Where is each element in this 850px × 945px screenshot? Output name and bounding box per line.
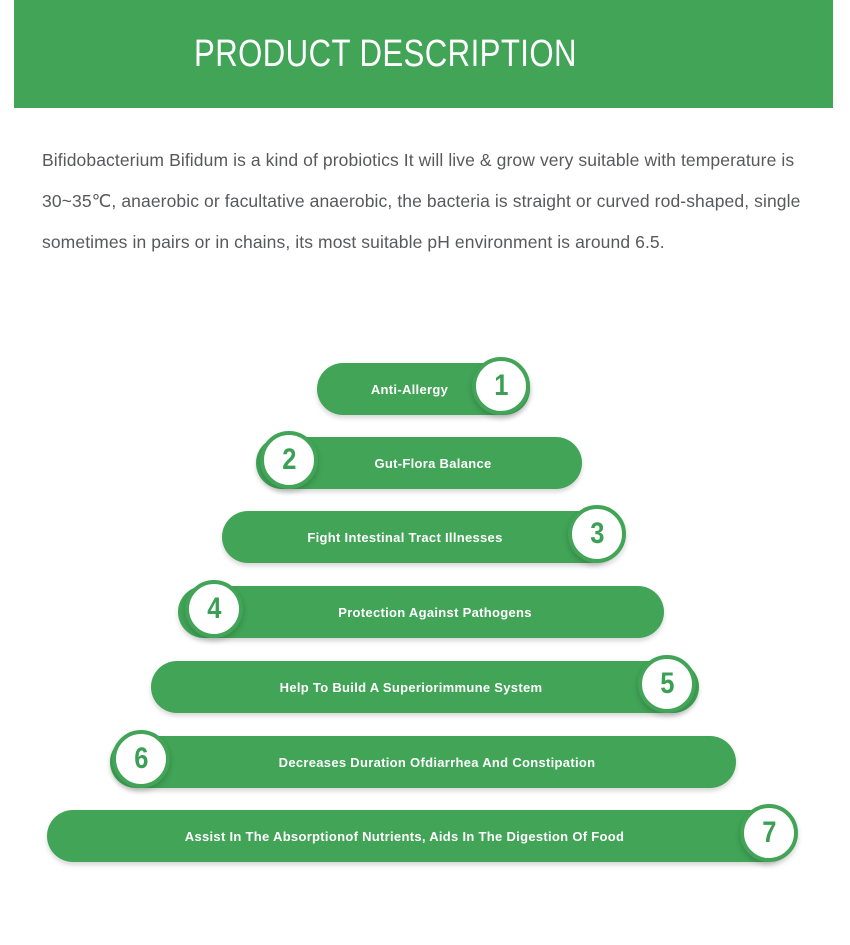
benefit-badge-3: 3 — [568, 505, 626, 563]
benefit-badge-7: 7 — [740, 804, 798, 862]
benefit-label-2: Gut-Flora Balance — [328, 456, 537, 471]
benefit-label-1: Anti-Allergy — [325, 382, 494, 397]
benefit-label-7: Assist In The Absorptionof Nutrients, Ai… — [139, 829, 670, 844]
benefit-row-5: Help To Build A Superiorimmune System 5 — [0, 661, 850, 713]
benefit-badge-6: 6 — [112, 730, 170, 788]
benefit-badge-1: 1 — [472, 357, 530, 415]
benefit-number-6: 6 — [134, 744, 148, 774]
benefit-row-2: Gut-Flora Balance 2 — [0, 437, 850, 489]
benefit-number-7: 7 — [762, 818, 776, 848]
benefit-bar-4[interactable]: Protection Against Pathogens — [178, 586, 664, 638]
benefit-row-4: Protection Against Pathogens 4 — [0, 586, 850, 638]
benefit-label-6: Decreases Duration Ofdiarrhea And Consti… — [233, 755, 642, 770]
benefit-label-5: Help To Build A Superiorimmune System — [234, 680, 589, 695]
benefit-label-4: Protection Against Pathogens — [292, 605, 578, 620]
page-header-banner: PRODUCT DESCRIPTION — [14, 0, 833, 108]
benefit-bar-6[interactable]: Decreases Duration Ofdiarrhea And Consti… — [110, 736, 736, 788]
benefit-row-3: Fight Intestinal Tract Illnesses 3 — [0, 511, 850, 563]
benefits-pyramid: Anti-Allergy 1 Gut-Flora Balance 2 Fight… — [0, 363, 850, 883]
benefit-bar-5[interactable]: Help To Build A Superiorimmune System — [151, 661, 699, 713]
page-title: PRODUCT DESCRIPTION — [194, 33, 577, 76]
benefit-label-3: Fight Intestinal Tract Illnesses — [261, 530, 548, 545]
benefit-bar-3[interactable]: Fight Intestinal Tract Illnesses — [222, 511, 616, 563]
benefit-number-5: 5 — [660, 669, 674, 699]
benefit-number-2: 2 — [282, 445, 296, 475]
benefit-row-1: Anti-Allergy 1 — [0, 363, 850, 415]
benefit-badge-5: 5 — [638, 655, 696, 713]
benefit-badge-4: 4 — [185, 580, 243, 638]
benefit-bar-7[interactable]: Assist In The Absorptionof Nutrients, Ai… — [47, 810, 790, 862]
benefit-row-7: Assist In The Absorptionof Nutrients, Ai… — [0, 810, 850, 862]
benefit-number-4: 4 — [207, 594, 221, 624]
benefit-badge-2: 2 — [260, 431, 318, 489]
benefit-number-1: 1 — [494, 371, 508, 401]
product-description-text: Bifidobacterium Bifidum is a kind of pro… — [42, 140, 810, 263]
benefit-row-6: Decreases Duration Ofdiarrhea And Consti… — [0, 736, 850, 788]
benefit-number-3: 3 — [590, 519, 604, 549]
